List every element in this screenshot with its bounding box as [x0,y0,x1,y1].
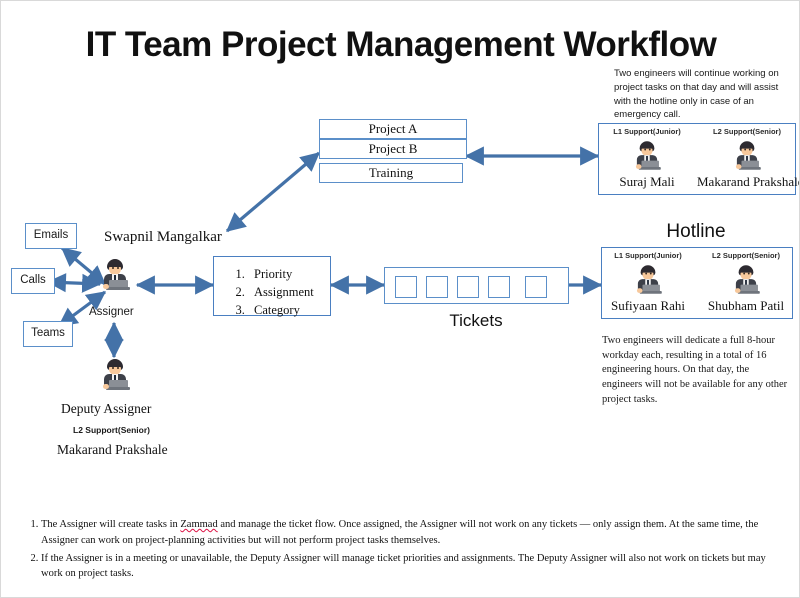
project-team-box: L1 Support(Junior) Suraj Mali L2 Support… [598,123,796,195]
ticket-item[interactable] [395,276,417,298]
project-row-a[interactable]: Project A [319,119,467,139]
input-box-teams[interactable]: Teams [23,321,73,347]
support-level-label: L2 Support(Senior) [696,252,796,260]
member-name: Makarand Prakshale [697,175,797,188]
project-row-b[interactable]: Project B [319,139,467,159]
assigner-role: Assigner [89,306,134,318]
office-worker-icon [633,141,661,170]
project-team-member: L2 Support(Senior) Makarand Prakshale [697,128,797,188]
office-worker-icon [634,265,662,294]
triage-item: Assignment [248,283,330,301]
footnote-item: If the Assigner is in a meeting or unava… [41,551,789,583]
ticket-item[interactable] [426,276,448,298]
hotline-note: Two engineers will dedicate a full 8-hou… [602,334,788,407]
hotline-box: L1 Support(Junior) Sufiyaan Rahi L2 Supp… [601,247,793,319]
triage-item: Priority [248,265,330,283]
hotline-member: L2 Support(Senior) Shubham Patil [696,252,796,312]
input-label: Emails [34,230,69,242]
project-label: Project B [369,141,418,157]
footnote-text-a: The Assigner will create tasks in [41,519,180,530]
project-row-training[interactable]: Training [319,163,463,183]
footnote-item: The Assigner will create tasks in Zammad… [41,517,789,549]
member-name: Sufiyaan Rahi [598,299,698,312]
slide-canvas: IT Team Project Management Workflow [0,0,800,598]
ticket-item[interactable] [488,276,510,298]
project-label: Project A [369,121,418,137]
input-label: Teams [31,328,65,340]
deputy-support-level: L2 Support(Senior) [73,425,150,435]
input-label: Calls [20,275,46,287]
hotline-title: Hotline [586,221,800,243]
support-level-label: L1 Support(Junior) [597,128,697,136]
office-worker-icon [733,141,761,170]
hotline-member: L1 Support(Junior) Sufiyaan Rahi [598,252,698,312]
support-level-label: L1 Support(Junior) [598,252,698,260]
assigner-avatar [100,259,130,291]
tickets-caption: Tickets [376,311,576,331]
triage-box[interactable]: Priority Assignment Category [213,256,331,316]
triage-list: Priority Assignment Category [228,265,330,319]
page-title: IT Team Project Management Workflow [1,25,800,65]
deputy-role: Deputy Assigner [61,401,151,417]
deputy-name: Makarand Prakshale [57,442,168,458]
footnotes: The Assigner will create tasks in Zammad… [19,517,789,584]
assigner-name: Swapnil Mangalkar [104,229,222,246]
ticket-item[interactable] [525,276,547,298]
project-team-member: L1 Support(Junior) Suraj Mali [597,128,697,188]
member-name: Suraj Mali [597,175,697,188]
support-level-label: L2 Support(Senior) [697,128,797,136]
spellcheck-word: Zammad [180,519,217,530]
ticket-item[interactable] [457,276,479,298]
triage-item: Category [248,301,330,319]
project-team-note: Two engineers will continue working on p… [614,67,794,122]
project-label: Training [369,165,413,181]
office-worker-icon [732,265,760,294]
member-name: Shubham Patil [696,299,796,312]
input-box-emails[interactable]: Emails [25,223,77,249]
input-box-calls[interactable]: Calls [11,268,55,294]
deputy-avatar [100,359,130,391]
tickets-container [384,267,569,304]
